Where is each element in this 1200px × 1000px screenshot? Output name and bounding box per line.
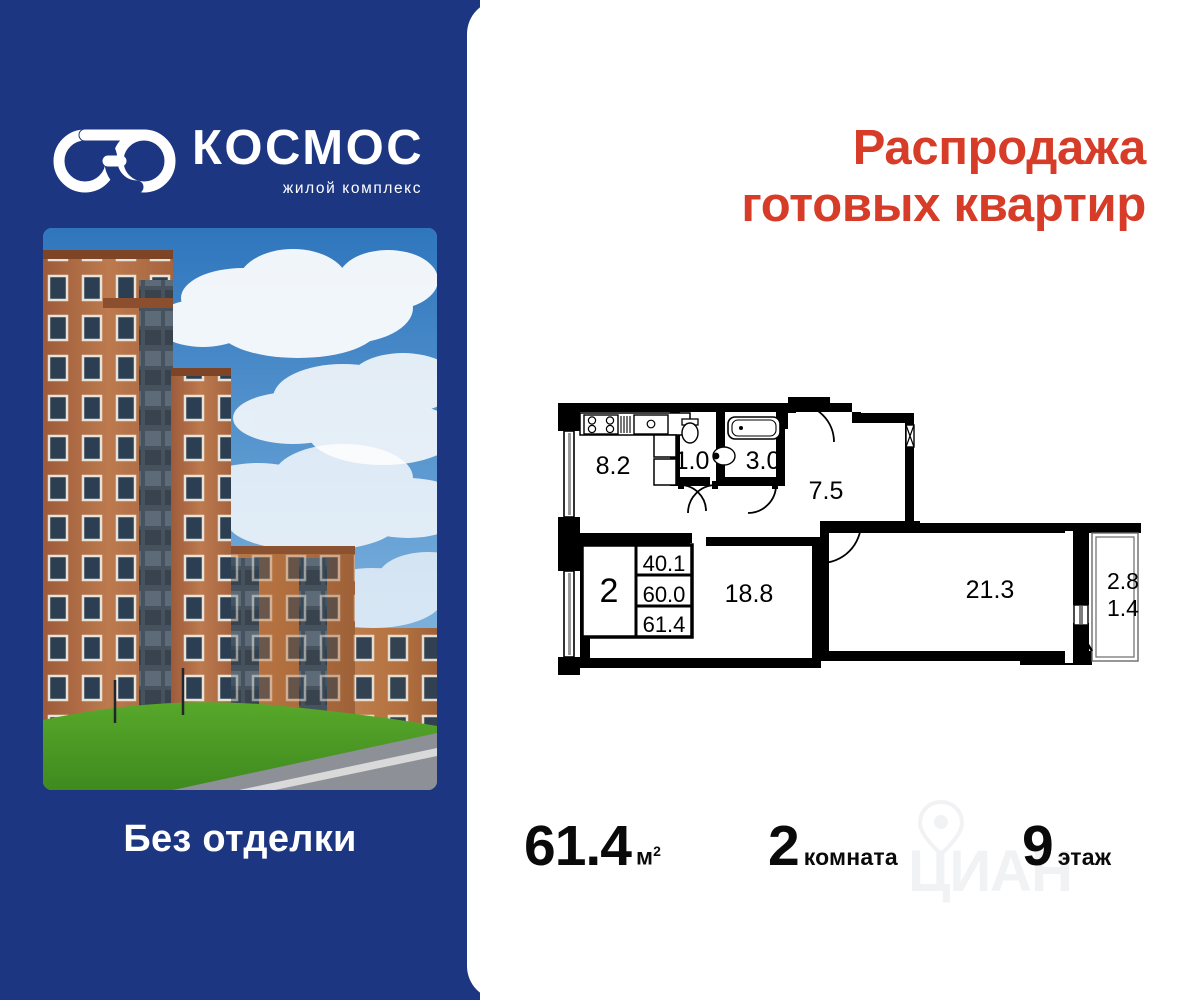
building-photo <box>43 228 437 790</box>
info-living-area: 40.1 <box>643 551 686 576</box>
room-label-balcony-calc: 1.4 <box>1107 595 1139 621</box>
washbasin-icon <box>713 447 735 465</box>
spec-area-unit: м2 <box>636 843 661 871</box>
spec-rooms: 2 комната <box>768 816 898 876</box>
plan-info-box: 2 40.1 60.0 61.4 <box>582 545 692 637</box>
room-label-kitchen: 8.2 <box>596 452 631 480</box>
room-label-hallway: 7.5 <box>809 477 844 505</box>
brand-logo-text: КОСМОС жилой комплекс <box>192 122 424 199</box>
finish-label: Без отделки <box>0 818 480 861</box>
sink-icon <box>634 415 668 434</box>
apartment-specs: 61.4 м2 2 комната 9 этаж <box>500 812 1180 892</box>
spec-rooms-value: 2 <box>768 816 799 876</box>
page-title: Распродажа готовых квартир <box>536 120 1146 234</box>
stove-icon <box>584 415 618 434</box>
brand-logo: КОСМОС жилой комплекс <box>52 122 452 214</box>
room-label-balcony-area: 2.8 <box>1107 568 1139 594</box>
info-area-no-balcony: 60.0 <box>643 582 686 607</box>
spec-area: 61.4 м2 <box>524 816 661 876</box>
room-label-living-room: 21.3 <box>966 576 1015 604</box>
headline-line-1: Распродажа <box>536 120 1146 177</box>
spec-area-value: 61.4 <box>524 816 631 876</box>
spec-floor: 9 этаж <box>1022 816 1111 876</box>
info-rooms: 2 <box>600 572 619 610</box>
spec-rooms-unit: комната <box>804 844 898 871</box>
brand-tagline: жилой комплекс <box>192 174 424 199</box>
spec-floor-value: 9 <box>1022 816 1053 876</box>
info-total-area: 61.4 <box>643 612 686 637</box>
bathtub-icon <box>728 417 780 439</box>
floor-plan: 2 40.1 60.0 61.4 8.2 1.0 3.0 7.5 18.8 21… <box>520 375 1165 675</box>
headline-line-2: готовых квартир <box>536 177 1146 234</box>
room-label-wc: 1.0 <box>675 447 710 475</box>
spec-floor-unit: этаж <box>1058 844 1112 871</box>
infinity-loop-icon <box>52 128 180 194</box>
brand-name: КОСМОС <box>192 122 424 174</box>
room-label-bedroom: 18.8 <box>725 580 774 608</box>
poster-root: КОСМОС жилой комплекс <box>0 0 1200 1000</box>
room-label-bathroom: 3.0 <box>746 447 781 475</box>
toilet-icon <box>682 419 698 443</box>
